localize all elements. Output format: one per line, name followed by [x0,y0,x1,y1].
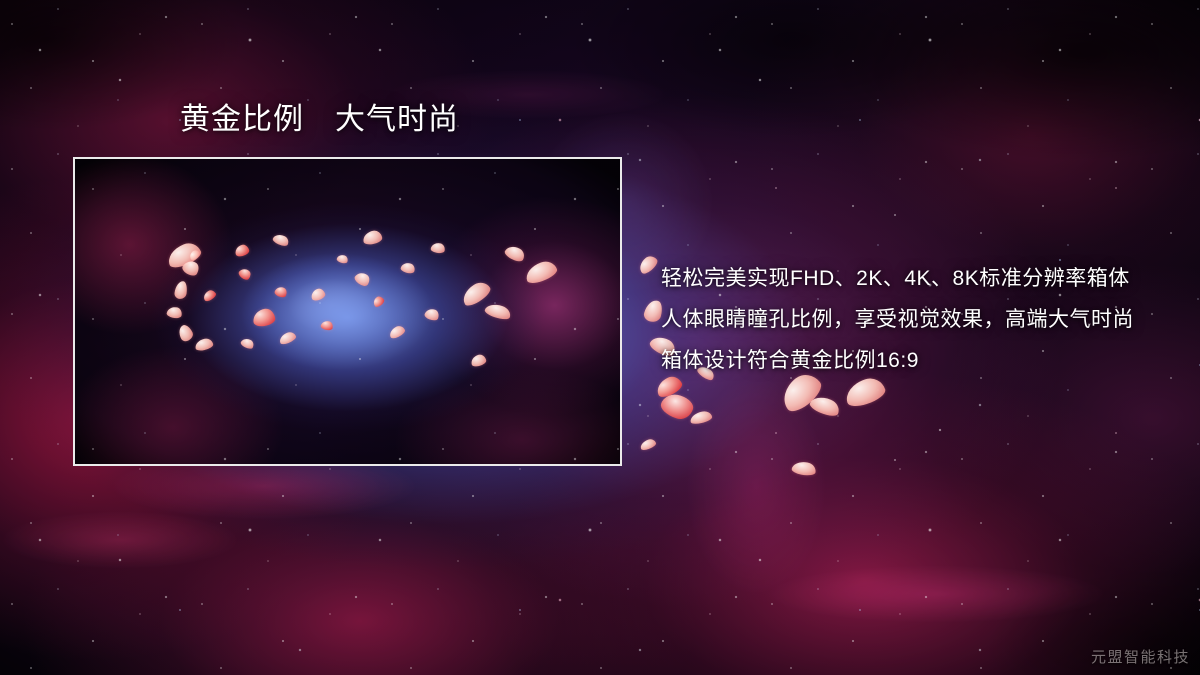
petal [430,242,446,254]
description-line: 箱体设计符合黄金比例16:9 [661,340,1161,381]
watermark-label: 元盟智能科技 [1091,646,1190,667]
description-text-block: 轻松完美实现FHD、2K、4K、8K标准分辨率箱体 人体眼睛瞳孔比例，享受视觉效… [661,258,1161,381]
petal [523,258,559,286]
petal [174,280,188,299]
petal [202,288,218,302]
petal [194,337,214,352]
petal [234,243,250,257]
description-line: 人体眼睛瞳孔比例，享受视觉效果，高端大气时尚 [661,299,1161,340]
petal [689,410,713,425]
petal [388,324,407,340]
petal [237,266,253,281]
petal [278,330,298,346]
page-title: 黄金比例 大气时尚 [180,101,459,139]
galaxy-petals-photo[interactable] [73,157,622,466]
petal [176,323,195,343]
petal [791,460,817,477]
petal [166,306,183,320]
petal [252,308,276,328]
description-line: 轻松完美实现FHD、2K、4K、8K标准分辨率箱体 [661,258,1161,299]
petal [240,337,256,351]
petal [639,438,657,452]
petal [470,353,487,367]
photo-starfield [75,159,620,464]
petal [320,320,334,332]
petal [274,285,289,299]
petal [424,307,441,322]
petal [484,301,513,321]
petal [400,261,416,274]
petal [310,287,327,302]
petal [362,229,383,245]
petal [353,270,372,289]
petal [636,253,660,276]
slide-canvas: 黄金比例 大气时尚 轻松完美实现FHD、2K、4K、8K标准分辨率箱体 人体眼睛… [0,0,1200,675]
petal [272,232,291,248]
photo-nebula-layer [75,159,620,464]
petal [459,278,493,308]
petal [371,295,385,309]
petal [503,243,527,264]
petal [336,253,349,264]
